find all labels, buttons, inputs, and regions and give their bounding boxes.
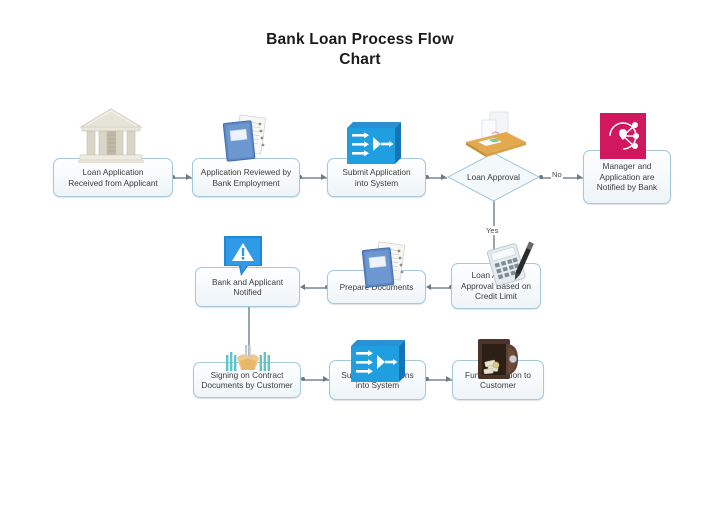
connector-dot: [301, 377, 305, 381]
edge-label-no: No: [551, 170, 563, 179]
node-label-line-2: Received from Applicant: [68, 178, 157, 189]
handshake-icon: [224, 341, 272, 373]
arrow-head: [441, 174, 446, 180]
connector-prepare-notified: [303, 287, 327, 289]
node-label-line-2: Documents by Customer: [201, 380, 292, 391]
notebook-documents-icon: [352, 240, 410, 292]
arrow-head: [577, 174, 582, 180]
node-label-line-2: Application are: [597, 172, 657, 183]
node-label-line-1: Submit Application: [342, 167, 410, 178]
node-label-line-2: Bank Employment: [201, 178, 291, 189]
node-label-line-2: Notified: [212, 287, 283, 298]
node-label-line-3: Credit Limit: [461, 291, 531, 302]
node-label-line-2: into System: [342, 178, 410, 189]
arrow-head: [446, 376, 451, 382]
process-flow-icon: [351, 338, 405, 382]
node-label-line-2: Customer: [465, 380, 531, 391]
desk-review-icon: [456, 108, 528, 166]
alert-bubble-icon: [222, 234, 264, 278]
node-label-line-1: Loan Application: [68, 167, 157, 178]
node-label-line-1: Application Reviewed by: [201, 167, 291, 178]
node-label-line-3: Notified by Bank: [597, 182, 657, 193]
arrow-head: [321, 174, 326, 180]
title-line-1: Bank Loan Process Flow: [0, 30, 720, 50]
network-notify-icon: [600, 113, 646, 159]
calculator-pen-icon: [487, 241, 541, 285]
node-label-line-1: Bank and Applicant: [212, 277, 283, 288]
flowchart-canvas: Bank Loan Process Flow Chart No Yes: [0, 0, 720, 509]
bank-building-icon: [78, 106, 144, 164]
arrow-head: [323, 376, 328, 382]
arrow-head: [426, 284, 431, 290]
page-title: Bank Loan Process Flow Chart: [0, 30, 720, 70]
safe-vault-icon: [475, 337, 525, 381]
notebook-documents-icon: [213, 112, 271, 167]
process-flow-icon: [347, 120, 401, 164]
title-line-2: Chart: [0, 50, 720, 70]
connector-loanamount-prepare: [429, 287, 451, 289]
edge-label-yes: Yes: [485, 226, 499, 235]
arrow-head: [300, 284, 305, 290]
arrow-head: [186, 174, 191, 180]
node-label-line-1: Manager and: [597, 161, 657, 172]
